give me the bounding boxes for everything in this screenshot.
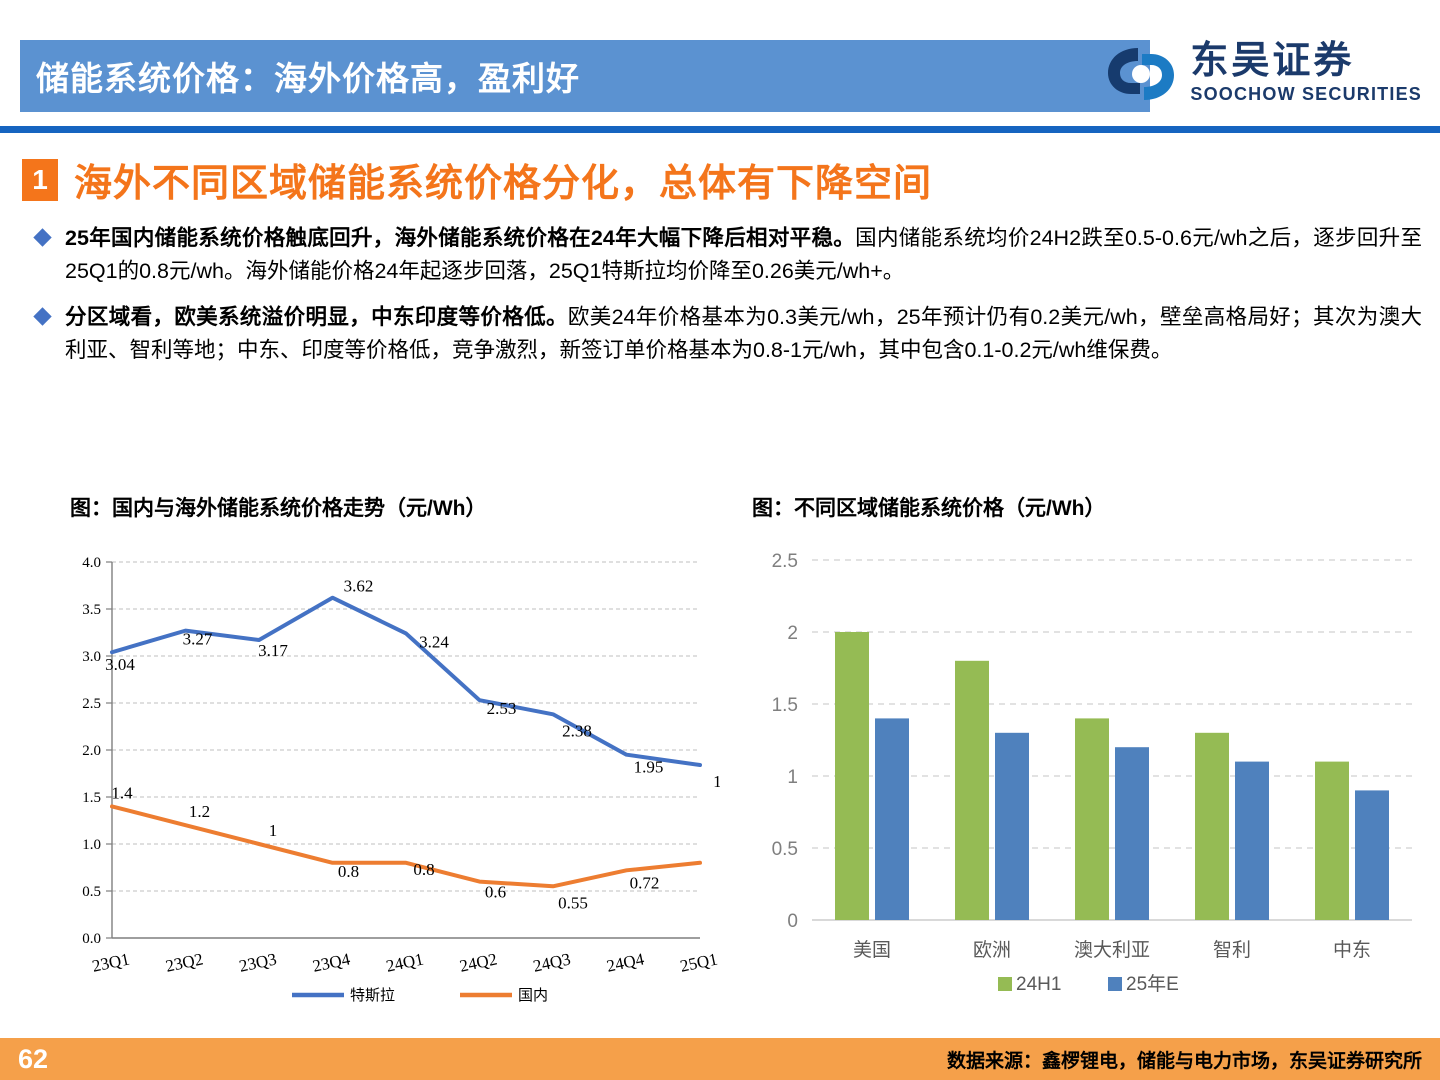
x-axis-tick-label: 24Q3 bbox=[531, 949, 572, 975]
data-label: 1 bbox=[269, 821, 278, 840]
x-axis-tick-label: 24Q1 bbox=[384, 949, 425, 975]
y-axis-tick-label: 2 bbox=[787, 623, 798, 644]
x-axis-tick-label: 25Q1 bbox=[678, 949, 719, 975]
x-axis-category-label: 欧洲 bbox=[973, 939, 1011, 961]
bar-欧洲-24H1 bbox=[955, 661, 989, 920]
data-label: 3.27 bbox=[183, 630, 213, 649]
y-axis-tick-label: 0.5 bbox=[82, 884, 101, 900]
x-axis-category-label: 智利 bbox=[1213, 939, 1251, 961]
line-chart-title: 图：国内与海外储能系统价格走势（元/Wh） bbox=[70, 492, 486, 522]
data-label: 0.8 bbox=[338, 862, 359, 881]
bar-美国-24H1 bbox=[835, 632, 869, 920]
bar-智利-24H1 bbox=[1195, 733, 1229, 920]
bullet-item: 25年国内储能系统价格触底回升，海外储能系统价格在24年大幅下降后相对平稳。国内… bbox=[36, 222, 1422, 287]
y-axis-tick-label: 1.5 bbox=[772, 695, 798, 716]
x-axis-tick-label: 24Q4 bbox=[605, 949, 646, 976]
y-axis-tick-label: 3.0 bbox=[82, 649, 101, 665]
bar-欧洲-25年E bbox=[995, 733, 1029, 920]
data-label: 0.6 bbox=[485, 883, 506, 902]
data-label: 0.55 bbox=[558, 893, 588, 912]
y-axis-tick-label: 0 bbox=[787, 911, 798, 932]
bar-澳大利亚-24H1 bbox=[1075, 718, 1109, 920]
bar-智利-25年E bbox=[1235, 762, 1269, 920]
bar-中东-25年E bbox=[1355, 790, 1389, 920]
series-line-特斯拉 bbox=[112, 598, 700, 765]
page-title: 储能系统价格：海外价格高，盈利好 bbox=[20, 52, 580, 100]
data-label: 2.38 bbox=[562, 721, 592, 740]
data-label: 1.2 bbox=[189, 802, 210, 821]
data-label: 1.95 bbox=[634, 758, 664, 777]
x-axis-tick-label: 23Q1 bbox=[90, 949, 131, 975]
page-number: 62 bbox=[0, 1044, 48, 1075]
legend-label-25年E: 25年E bbox=[1126, 973, 1179, 995]
line-chart-svg: 0.00.51.01.52.02.53.03.54.023Q123Q223Q32… bbox=[60, 548, 720, 1018]
data-label: 0.8 bbox=[413, 860, 434, 879]
diamond-bullet-icon bbox=[33, 228, 51, 246]
x-axis-tick-label: 23Q3 bbox=[237, 949, 278, 975]
y-axis-tick-label: 0.5 bbox=[772, 839, 798, 860]
x-axis-tick-label: 23Q4 bbox=[311, 949, 352, 976]
data-label: 2.53 bbox=[487, 699, 517, 718]
legend-label-国内: 国内 bbox=[518, 987, 548, 1004]
data-label: 3.04 bbox=[105, 655, 135, 674]
x-axis-tick-label: 23Q2 bbox=[164, 949, 205, 975]
legend-swatch-25年E bbox=[1108, 977, 1122, 991]
bullet-list: 25年国内储能系统价格触底回升，海外储能系统价格在24年大幅下降后相对平稳。国内… bbox=[36, 222, 1422, 381]
legend-label-特斯拉: 特斯拉 bbox=[350, 987, 395, 1004]
y-axis-tick-label: 2.0 bbox=[82, 743, 101, 759]
y-axis-tick-label: 3.5 bbox=[82, 602, 101, 618]
legend-swatch-24H1 bbox=[998, 977, 1012, 991]
x-axis-category-label: 美国 bbox=[853, 939, 891, 961]
data-label: 1.84 bbox=[713, 772, 720, 791]
bar-chart-svg: 00.511.522.5美国欧洲澳大利亚智利中东24H125年E bbox=[740, 530, 1430, 1020]
logo-chinese-name: 东吴证券 bbox=[1190, 42, 1354, 82]
header-bar: 储能系统价格：海外价格高，盈利好 bbox=[20, 40, 1150, 112]
y-axis-tick-label: 1.5 bbox=[82, 790, 101, 806]
data-label: 3.62 bbox=[344, 577, 374, 596]
y-axis-tick-label: 4.0 bbox=[82, 555, 101, 571]
bullet-bold-lead: 25年国内储能系统价格触底回升，海外储能系统价格在24年大幅下降后相对平稳。 bbox=[65, 226, 855, 250]
data-label: 0.8 bbox=[719, 852, 720, 871]
logo-english-name: SOOCHOW SECURITIES bbox=[1190, 84, 1422, 106]
bullet-item: 分区域看，欧美系统溢价明显，中东印度等价格低。欧美24年价格基本为0.3美元/w… bbox=[36, 301, 1422, 366]
footer-bar: 62 数据来源：鑫椤锂电，储能与电力市场，东吴证券研究所 bbox=[0, 1038, 1440, 1080]
y-axis-tick-label: 2.5 bbox=[772, 551, 798, 572]
x-axis-category-label: 中东 bbox=[1333, 939, 1371, 961]
slide-page: 储能系统价格：海外价格高，盈利好 东吴证券 SOOCHOW SECURITIES… bbox=[0, 0, 1440, 1080]
source-note: 数据来源：鑫椤锂电，储能与电力市场，东吴证券研究所 bbox=[947, 1046, 1440, 1073]
data-label: 1.4 bbox=[111, 783, 133, 802]
y-axis-tick-label: 2.5 bbox=[82, 696, 101, 712]
data-label: 3.17 bbox=[258, 641, 288, 660]
section-number-badge: 1 bbox=[22, 159, 58, 201]
company-logo: 东吴证券 SOOCHOW SECURITIES bbox=[1104, 42, 1422, 106]
legend-label-24H1: 24H1 bbox=[1016, 974, 1061, 995]
y-axis-tick-label: 1 bbox=[787, 767, 798, 788]
x-axis-tick-label: 24Q2 bbox=[458, 949, 499, 975]
section-heading: 1 海外不同区域储能系统价格分化，总体有下降空间 bbox=[22, 152, 932, 207]
logo-text-block: 东吴证券 SOOCHOW SECURITIES bbox=[1190, 42, 1422, 105]
diamond-bullet-icon bbox=[33, 308, 51, 326]
bullet-text: 分区域看，欧美系统溢价明显，中东印度等价格低。欧美24年价格基本为0.3美元/w… bbox=[65, 301, 1422, 366]
data-label: 0.72 bbox=[630, 873, 660, 892]
bullet-text: 25年国内储能系统价格触底回升，海外储能系统价格在24年大幅下降后相对平稳。国内… bbox=[65, 222, 1422, 287]
section-title: 海外不同区域储能系统价格分化，总体有下降空间 bbox=[74, 152, 932, 207]
bar-chart: 00.511.522.5美国欧洲澳大利亚智利中东24H125年E bbox=[740, 530, 1430, 1020]
bar-中东-24H1 bbox=[1315, 762, 1349, 920]
y-axis-tick-label: 0.0 bbox=[82, 931, 101, 947]
bar-澳大利亚-25年E bbox=[1115, 747, 1149, 920]
x-axis-category-label: 澳大利亚 bbox=[1074, 939, 1150, 961]
y-axis-tick-label: 1.0 bbox=[82, 837, 101, 853]
bar-chart-title: 图：不同区域储能系统价格（元/Wh） bbox=[752, 492, 1105, 522]
soochow-logo-icon bbox=[1104, 42, 1178, 106]
bullet-bold-lead: 分区域看，欧美系统溢价明显，中东印度等价格低。 bbox=[65, 305, 568, 329]
bar-美国-25年E bbox=[875, 718, 909, 920]
header-divider bbox=[0, 126, 1440, 133]
line-chart: 0.00.51.01.52.02.53.03.54.023Q123Q223Q32… bbox=[60, 548, 720, 1018]
data-label: 3.24 bbox=[419, 632, 449, 651]
